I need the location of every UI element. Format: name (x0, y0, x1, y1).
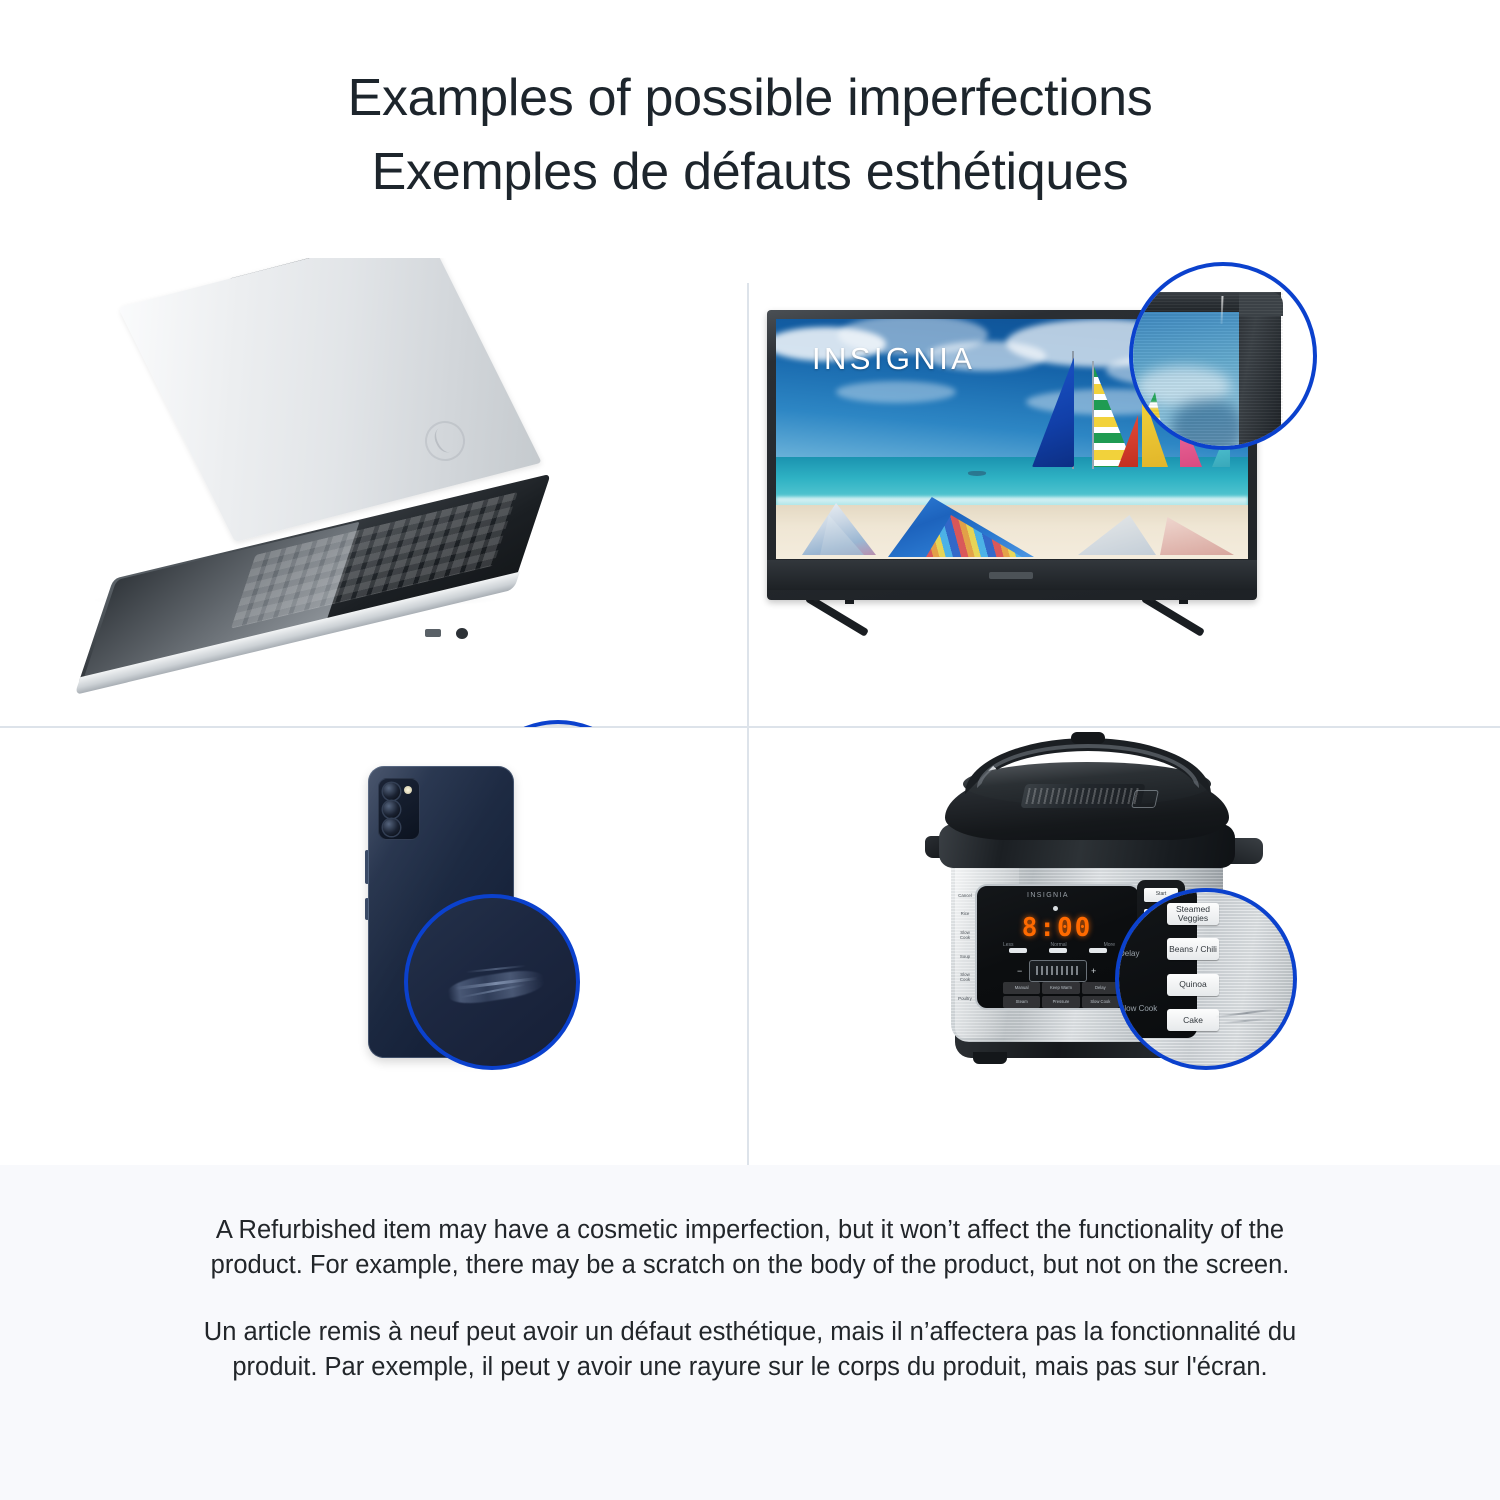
laptop-imperfection-magnifier (470, 720, 646, 727)
laptop-audio-port (456, 628, 468, 639)
magnified-left-label: Delay (1119, 949, 1139, 958)
phone-imperfection-magnifier (404, 894, 580, 1070)
smartphone-image (0, 728, 748, 1165)
cooker-left-label: Slow Cook (955, 930, 975, 940)
magnified-left-label: Slow Cook (1119, 1004, 1157, 1013)
footer-paragraph-english: A Refurbished item may have a cosmetic i… (175, 1213, 1325, 1283)
decrease-time-button[interactable]: − (1017, 966, 1022, 976)
cooker-pressure-indicator-row (1007, 948, 1111, 954)
tv-stand-left (809, 594, 921, 646)
cooker-left-label-column: Cancel Rice Slow Cook Soup Slow Cook Pou… (955, 886, 975, 1008)
tv-screen-brand-text: INSIGNIA (812, 341, 975, 377)
tv-stand-right (1145, 594, 1257, 646)
header: Examples of possible imperfections Exemp… (0, 0, 1500, 258)
magnified-preset-button: Steamed Veggies (1167, 903, 1219, 925)
indicator-bar (1089, 948, 1107, 953)
magnified-preset-button: Cake (1167, 1009, 1219, 1031)
cooker-left-label: Poultry (958, 996, 972, 1001)
cooker-function-button[interactable]: Manual (1003, 982, 1040, 994)
magnified-left-labels: Delay Slow Cook (1119, 926, 1159, 1036)
indicator-bar (1049, 948, 1067, 953)
sailboat-mast (1092, 361, 1094, 469)
cooker-function-button[interactable]: Steam (1003, 996, 1040, 1008)
cooker-brand-text: INSIGNIA (1027, 892, 1069, 899)
magnified-preset-button: Beans / Chili (1167, 938, 1219, 960)
cooker-function-button[interactable]: Pressure (1042, 996, 1079, 1008)
cooker-function-button-grid[interactable]: Manual Keep Warm Delay Steam Pressure Sl… (1003, 982, 1119, 1008)
indicator-bar (1009, 948, 1027, 953)
cloud (836, 381, 956, 403)
product-examples-grid: INSIGNIA (0, 258, 1500, 1165)
pressure-cooker-image: Cancel Rice Slow Cook Soup Slow Cook Pou… (749, 728, 1500, 1165)
increase-time-button[interactable]: + (1091, 966, 1096, 976)
magnified-preset-button: Quinoa (1167, 974, 1219, 996)
television-image: INSIGNIA (749, 258, 1500, 727)
cooker-foot (973, 1052, 1007, 1064)
cooker-left-label: Rice (961, 911, 970, 916)
laptop-panel (0, 258, 748, 727)
cooker-led-display: 8:00 (1019, 914, 1095, 942)
page-title-french: Exemples de défauts esthétiques (372, 140, 1129, 204)
bezel-texture (1129, 292, 1283, 450)
cooker-left-label: Slow Cook (955, 972, 975, 982)
cooker-function-button[interactable]: Keep Warm (1042, 982, 1079, 994)
cooker-function-button[interactable]: Delay (1082, 982, 1119, 994)
smartphone-panel (0, 728, 748, 1165)
distant-boat (968, 471, 986, 476)
cooker-status-indicator (1053, 906, 1058, 911)
laptop-usb-port (425, 629, 441, 637)
footer-paragraph-french: Un article remis à neuf peut avoir un dé… (175, 1315, 1325, 1385)
cooker-left-label: Cancel (958, 893, 972, 898)
laptop-image (0, 258, 748, 727)
cooker-imperfection-magnifier: Delay Slow Cook Steamed Veggies Beans / … (1115, 888, 1297, 1070)
magnified-preset-buttons: Steamed Veggies Beans / Chili Quinoa Cak… (1165, 896, 1221, 1038)
tv-imperfection-magnifier (1129, 262, 1317, 450)
cooker-pressure-valve (1071, 732, 1105, 744)
page-title-english: Examples of possible imperfections (348, 66, 1153, 130)
footer-description: A Refurbished item may have a cosmetic i… (0, 1165, 1500, 1500)
cooker-left-label: Soup (960, 954, 970, 959)
tv-bezel-logo (989, 572, 1033, 579)
pressure-cooker-panel: Cancel Rice Slow Cook Soup Slow Cook Pou… (749, 728, 1500, 1165)
television-panel: INSIGNIA (749, 258, 1500, 727)
cooker-time-keypad[interactable] (1029, 960, 1087, 982)
cooker-function-button[interactable]: Slow Cook (1082, 996, 1119, 1008)
